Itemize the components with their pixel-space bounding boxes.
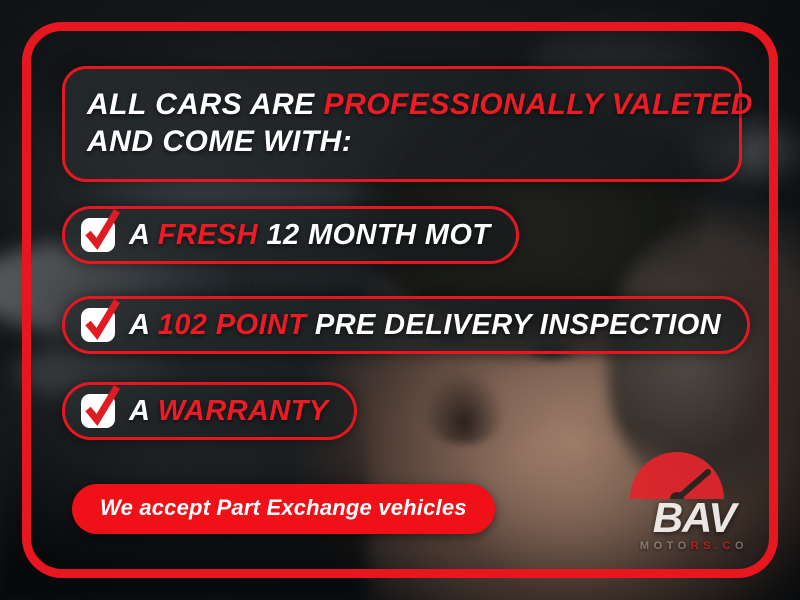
feature-pill-mot: A FRESH 12 MONTH MOT	[62, 206, 519, 264]
headline-panel: ALL CARS ARE PROFESSIONALLY VALETED AND …	[62, 66, 742, 182]
feature-pill-label: A 102 POINT PRE DELIVERY INSPECTION	[129, 309, 721, 342]
speedometer-gauge-icon	[630, 452, 758, 499]
feature-pill-warranty: A WARRANTY	[62, 382, 357, 440]
bav-motors-logo: BAV MOTORS.CO	[630, 452, 758, 552]
checkbox-checked-icon	[81, 394, 115, 428]
feature-highlight: 102 POINT	[158, 309, 307, 341]
feature-pill-label: A WARRANTY	[129, 395, 328, 428]
feature-suffix: 12 MONTH MOT	[258, 219, 490, 251]
checkbox-checked-icon	[81, 308, 115, 342]
bav-logo-subtext: MOTORS.CO	[630, 540, 758, 552]
headline-line-2: AND COME WITH:	[87, 123, 717, 160]
logo-sub-right: O	[735, 540, 748, 552]
feature-pill-inspection: A 102 POINT PRE DELIVERY INSPECTION	[62, 296, 750, 354]
logo-sub-red: RS.C	[691, 540, 735, 552]
promo-banner: ALL CARS ARE PROFESSIONALLY VALETED AND …	[0, 0, 800, 600]
part-exchange-button-label: We accept Part Exchange vehicles	[100, 495, 467, 520]
bav-wordmark: BAV	[630, 499, 758, 537]
headline-line-1: ALL CARS ARE PROFESSIONALLY VALETED	[87, 86, 717, 123]
feature-highlight: WARRANTY	[158, 395, 329, 427]
feature-pill-label: A FRESH 12 MONTH MOT	[129, 219, 490, 252]
feature-prefix: A	[129, 219, 158, 251]
feature-prefix: A	[129, 395, 158, 427]
feature-prefix: A	[129, 309, 158, 341]
feature-suffix: PRE DELIVERY INSPECTION	[306, 309, 721, 341]
headline-white-text: ALL CARS ARE	[87, 88, 324, 121]
part-exchange-button[interactable]: We accept Part Exchange vehicles	[72, 484, 495, 534]
checkbox-checked-icon	[81, 218, 115, 252]
feature-highlight: FRESH	[158, 219, 258, 251]
banner-content: ALL CARS ARE PROFESSIONALLY VALETED AND …	[0, 0, 800, 600]
logo-sub-left: MOTO	[640, 540, 691, 552]
headline-red-text: PROFESSIONALLY VALETED	[324, 88, 753, 121]
